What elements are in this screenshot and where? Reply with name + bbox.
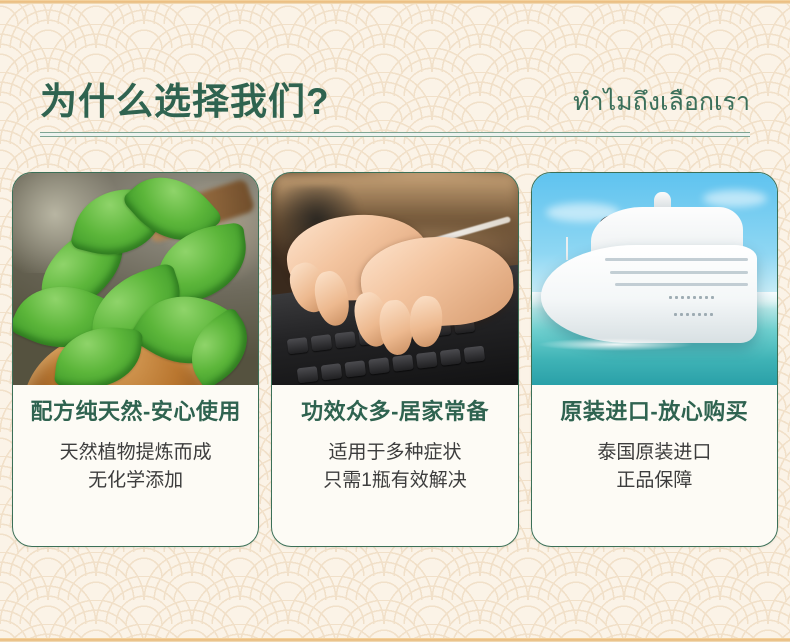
feature-card-list: 配方纯天然-安心使用 天然植物提炼而成 无化学添加	[12, 172, 778, 547]
ship-wake-foam	[537, 338, 694, 351]
ship-deck-line	[610, 271, 747, 274]
porthole	[693, 296, 696, 299]
porthole	[687, 296, 690, 299]
card-description-line: 只需1瓶有效解决	[323, 467, 467, 495]
porthole	[669, 296, 672, 299]
header-title-row: 为什么选择我们? ทำไมถึงเลือกเรา	[40, 62, 750, 120]
promo-page: 为什么选择我们? ทำไมถึงเลือกเรา	[0, 0, 790, 642]
hands-typing-laptop-photo	[272, 173, 517, 385]
keyboard-key	[334, 331, 356, 348]
fresh-mint-leaves-photo	[13, 173, 258, 385]
cruise-ship-ocean-photo	[532, 173, 777, 385]
keyboard-key	[344, 361, 366, 378]
keyboard-key	[416, 352, 438, 369]
card-title: 配方纯天然-安心使用	[31, 399, 241, 425]
card-description-line: 适用于多种症状	[323, 439, 467, 467]
card-text-body: 配方纯天然-安心使用 天然植物提炼而成 无化学添加	[13, 385, 258, 546]
cloud-shape	[703, 190, 767, 207]
card-description: 适用于多种症状 只需1瓶有效解决	[323, 439, 467, 494]
porthole	[681, 296, 684, 299]
keyboard-key	[297, 366, 319, 383]
card-description: 泰国原装进口 正品保障	[597, 439, 711, 494]
keyboard-key	[311, 334, 333, 351]
ship-deck-line	[605, 258, 747, 261]
keyboard-key	[463, 346, 485, 363]
ship-portholes	[669, 296, 714, 299]
keyboard-key	[440, 349, 462, 366]
ship-deck-line	[615, 283, 747, 286]
feature-card-many-uses[interactable]: 功效众多-居家常备 适用于多种症状 只需1瓶有效解决	[271, 172, 518, 547]
porthole	[674, 313, 677, 316]
top-gold-border	[0, 0, 790, 4]
porthole	[704, 313, 707, 316]
card-text-body: 功效众多-居家常备 适用于多种症状 只需1瓶有效解决	[272, 385, 517, 546]
ship-portholes	[674, 313, 713, 316]
feature-card-natural-formula[interactable]: 配方纯天然-安心使用 天然植物提炼而成 无化学添加	[12, 172, 259, 547]
card-title: 功效众多-居家常备	[301, 399, 489, 425]
porthole	[698, 313, 701, 316]
card-description-line: 天然植物提炼而成	[60, 439, 212, 467]
keyboard-key	[392, 355, 414, 372]
porthole	[675, 296, 678, 299]
porthole	[711, 296, 714, 299]
title-divider	[40, 132, 750, 137]
porthole	[710, 313, 713, 316]
card-description-line: 正品保障	[597, 467, 711, 495]
card-description-line: 泰国原装进口	[597, 439, 711, 467]
porthole	[699, 296, 702, 299]
ship-mast	[566, 237, 568, 260]
page-title-thai: ทำไมถึงเลือกเรา	[573, 88, 750, 120]
porthole	[680, 313, 683, 316]
page-title: 为什么选择我们?	[40, 83, 330, 120]
feature-card-imported[interactable]: 原装进口-放心购买 泰国原装进口 正品保障	[531, 172, 778, 547]
card-text-body: 原装进口-放心购买 泰国原装进口 正品保障	[532, 385, 777, 546]
keyboard-key	[287, 337, 309, 354]
porthole	[705, 296, 708, 299]
porthole	[686, 313, 689, 316]
card-description: 天然植物提炼而成 无化学添加	[60, 439, 212, 494]
porthole	[692, 313, 695, 316]
keyboard-key	[320, 363, 342, 380]
card-description-line: 无化学添加	[60, 467, 212, 495]
section-header: 为什么选择我们? ทำไมถึงเลือกเรา	[40, 62, 750, 144]
keyboard-key	[368, 358, 390, 375]
bottom-gold-border	[0, 638, 790, 642]
card-title: 原装进口-放心购买	[560, 399, 748, 425]
